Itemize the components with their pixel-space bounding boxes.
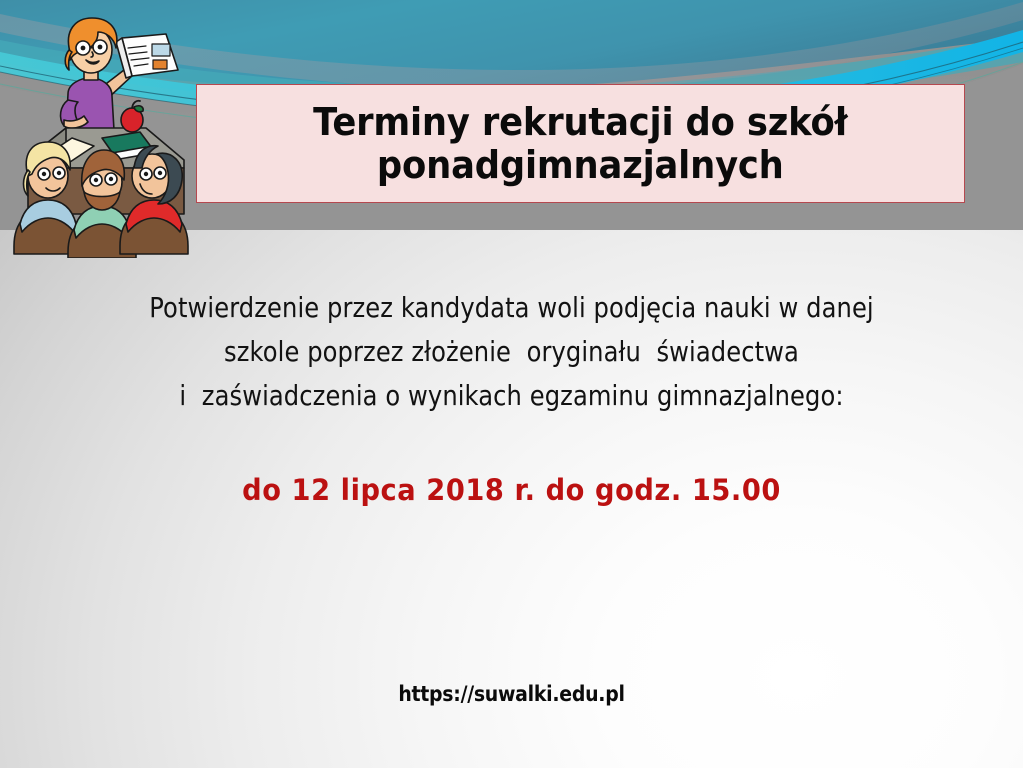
clipart-classroom-teacher-and-students: [6, 8, 206, 258]
body-line-1: Potwierdzenie przez kandydata woli podję…: [61, 286, 961, 330]
footer-url[interactable]: https://suwalki.edu.pl: [51, 682, 972, 706]
body-line-3: i zaświadczenia o wynikach egzaminu gimn…: [61, 374, 961, 418]
presentation-slide: Terminy rekrutacji do szkół ponadgimnazj…: [0, 0, 1023, 768]
body-line-2: szkole poprzez złożenie oryginału świade…: [61, 330, 961, 374]
title-box: Terminy rekrutacji do szkół ponadgimnazj…: [196, 84, 965, 203]
body-paragraph: Potwierdzenie przez kandydata woli podję…: [0, 286, 1023, 418]
deadline-text: do 12 lipca 2018 r. do godz. 15.00: [31, 473, 993, 507]
newspaper: [116, 34, 178, 78]
page-title: Terminy rekrutacji do szkół ponadgimnazj…: [304, 101, 857, 187]
desk-apple: [121, 101, 143, 132]
